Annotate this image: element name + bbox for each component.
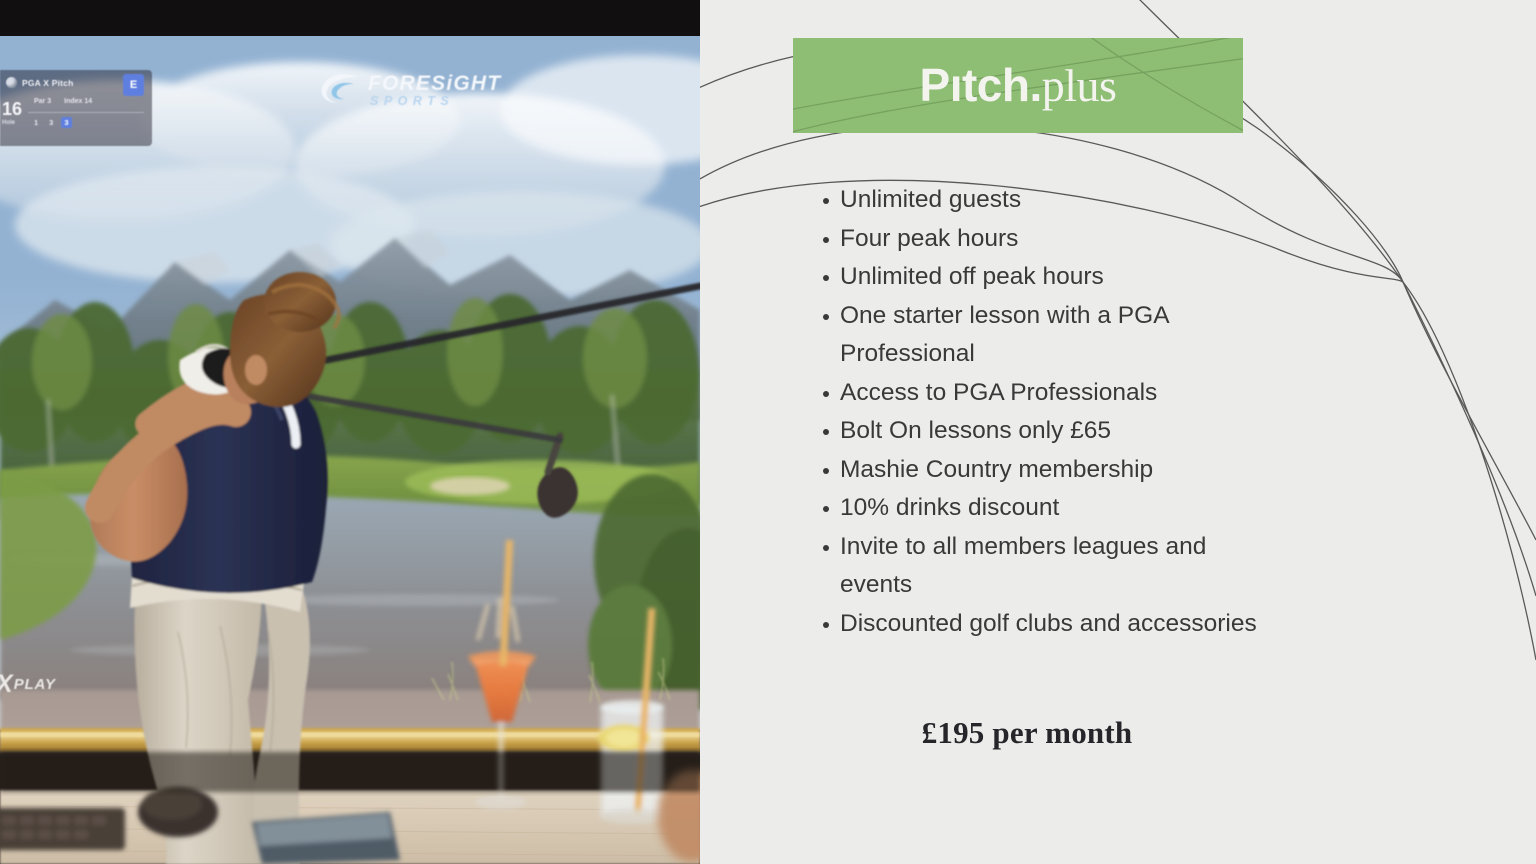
membership-slide: PGA X Pitch E 16 Hole Par 3 Index 14 1 3… <box>0 0 1536 864</box>
membership-details-panel: Pıtch.plus Unlimited guests Four peak ho… <box>700 0 1536 864</box>
hud-meta-row: Par 3 Index 14 <box>34 98 92 105</box>
hud-score-sublabel: Hole <box>2 120 15 126</box>
hud-course-label: PGA X Pitch <box>22 78 73 88</box>
logo-bold-part: Pıtch. <box>920 59 1042 111</box>
hud-hole-2: 3 <box>49 118 53 127</box>
hud-score-number: 16 <box>2 100 22 118</box>
hud-par-label: Par 3 <box>34 98 51 105</box>
logo-light-part: plus <box>1042 60 1117 111</box>
golf-ball-icon <box>6 77 17 88</box>
xplay-watermark: X PLAY <box>0 672 56 697</box>
price-label: £195 per month <box>812 715 1242 751</box>
foresight-swoosh-icon <box>318 72 362 108</box>
pitch-plus-logo-banner: Pıtch.plus <box>793 38 1243 133</box>
xplay-label: PLAY <box>14 676 56 693</box>
list-item: Access to PGA Professionals <box>840 374 1270 413</box>
list-item: Unlimited guests <box>840 181 1270 220</box>
foresight-sports-label: SPORTS <box>370 95 501 108</box>
list-item: 10% drinks discount <box>840 489 1270 528</box>
list-item: One starter lesson with a PGA Profession… <box>840 297 1270 374</box>
pitch-plus-wordmark: Pıtch.plus <box>920 62 1117 109</box>
hud-hole-list: 1 3 3 <box>34 117 72 128</box>
list-item: Four peak hours <box>840 220 1270 259</box>
golf-simulator-photo: PGA X Pitch E 16 Hole Par 3 Index 14 1 3… <box>0 0 700 864</box>
foresight-wordmark: FORESiGHT SPORTS <box>368 73 501 108</box>
list-item: Invite to all members leagues and events <box>840 528 1270 605</box>
list-item: Bolt On lessons only £65 <box>840 412 1270 451</box>
hud-divider <box>28 112 144 113</box>
hud-index-label: Index 14 <box>64 98 92 105</box>
foresight-name: FORESiGHT <box>368 73 501 94</box>
hud-score-badge: E <box>123 74 144 96</box>
hud-title-row: PGA X Pitch <box>6 77 73 88</box>
foresight-sports-logo: FORESiGHT SPORTS <box>318 72 501 108</box>
list-item: Discounted golf clubs and accessories <box>840 605 1270 644</box>
hud-hole-active: 3 <box>61 117 71 128</box>
list-item: Mashie Country membership <box>840 451 1270 490</box>
simulator-hud: PGA X Pitch E 16 Hole Par 3 Index 14 1 3… <box>0 70 152 146</box>
list-item: Unlimited off peak hours <box>840 258 1270 297</box>
benefits-list: Unlimited guests Four peak hours Unlimit… <box>812 181 1270 643</box>
xplay-mark-x: X <box>0 672 13 697</box>
hud-hole-1: 1 <box>34 118 38 127</box>
